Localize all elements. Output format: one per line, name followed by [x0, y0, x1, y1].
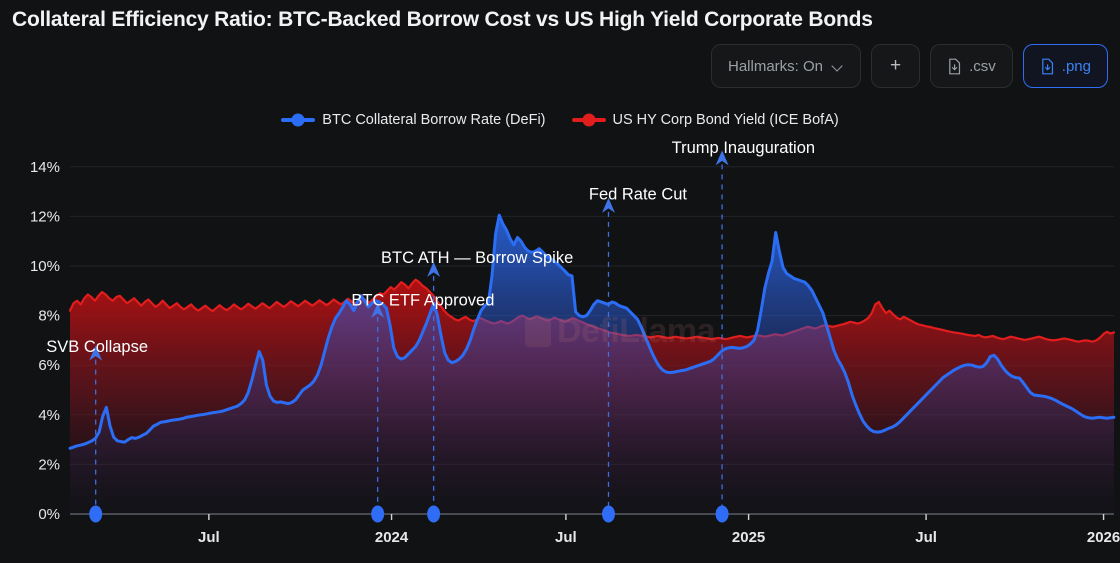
- svg-text:10%: 10%: [30, 258, 60, 275]
- svg-text:12%: 12%: [30, 208, 60, 225]
- legend-swatch-hy: [572, 118, 606, 122]
- svg-text:2%: 2%: [38, 456, 60, 473]
- legend-label-hy: US HY Corp Bond Yield (ICE BofA): [613, 112, 839, 128]
- hallmark-marker[interactable]: [371, 506, 384, 523]
- hallmark-label: BTC ATH — Borrow Spike: [381, 249, 573, 267]
- hallmark-marker[interactable]: [602, 506, 615, 523]
- hallmarks-label: Hallmarks: On: [728, 58, 823, 75]
- hallmark-label: BTC ETF Approved: [351, 292, 494, 310]
- chart-toolbar: Hallmarks: On + .csv .png: [711, 44, 1108, 88]
- svg-text:0%: 0%: [38, 506, 60, 523]
- legend-item-btc[interactable]: BTC Collateral Borrow Rate (DeFi): [281, 112, 545, 128]
- svg-text:Jul: Jul: [555, 529, 577, 546]
- png-label: .png: [1062, 58, 1091, 75]
- hallmark-marker[interactable]: [427, 506, 440, 523]
- file-download-icon: [947, 58, 962, 75]
- svg-text:8%: 8%: [38, 308, 60, 325]
- add-button[interactable]: +: [871, 44, 920, 88]
- svg-text:2026: 2026: [1087, 529, 1120, 546]
- legend-label-btc: BTC Collateral Borrow Rate (DeFi): [322, 112, 545, 128]
- chart-page: Collateral Efficiency Ratio: BTC-Backed …: [0, 0, 1120, 563]
- svg-text:Jul: Jul: [915, 529, 937, 546]
- chart-legend: BTC Collateral Borrow Rate (DeFi) US HY …: [0, 112, 1120, 128]
- legend-item-hy[interactable]: US HY Corp Bond Yield (ICE BofA): [572, 112, 839, 128]
- hallmark-label: SVB Collapse: [46, 338, 148, 356]
- svg-text:2025: 2025: [732, 529, 765, 546]
- hallmark-marker[interactable]: [716, 506, 729, 523]
- chart-svg[interactable]: 0%2%4%6%8%10%12%14%Jul2024Jul2025Jul2026…: [0, 128, 1120, 563]
- file-download-icon: [1040, 58, 1055, 75]
- chart-canvas[interactable]: 0%2%4%6%8%10%12%14%Jul2024Jul2025Jul2026…: [0, 128, 1120, 563]
- hallmark-label: Fed Rate Cut: [589, 186, 688, 204]
- legend-swatch-btc: [281, 118, 315, 122]
- page-title: Collateral Efficiency Ratio: BTC-Backed …: [12, 8, 873, 32]
- hallmark-marker[interactable]: [89, 506, 102, 523]
- hallmarks-dropdown[interactable]: Hallmarks: On: [711, 44, 861, 88]
- svg-text:4%: 4%: [38, 407, 60, 424]
- svg-text:Jul: Jul: [198, 529, 220, 546]
- svg-text:14%: 14%: [30, 159, 60, 176]
- svg-text:6%: 6%: [38, 357, 60, 374]
- csv-label: .csv: [969, 58, 996, 75]
- download-png-button[interactable]: .png: [1023, 44, 1108, 88]
- download-csv-button[interactable]: .csv: [930, 44, 1013, 88]
- plus-icon: +: [890, 55, 901, 77]
- svg-text:2024: 2024: [375, 529, 409, 546]
- hallmark-label: Trump Inauguration: [672, 139, 815, 157]
- chevron-down-icon: [833, 61, 844, 72]
